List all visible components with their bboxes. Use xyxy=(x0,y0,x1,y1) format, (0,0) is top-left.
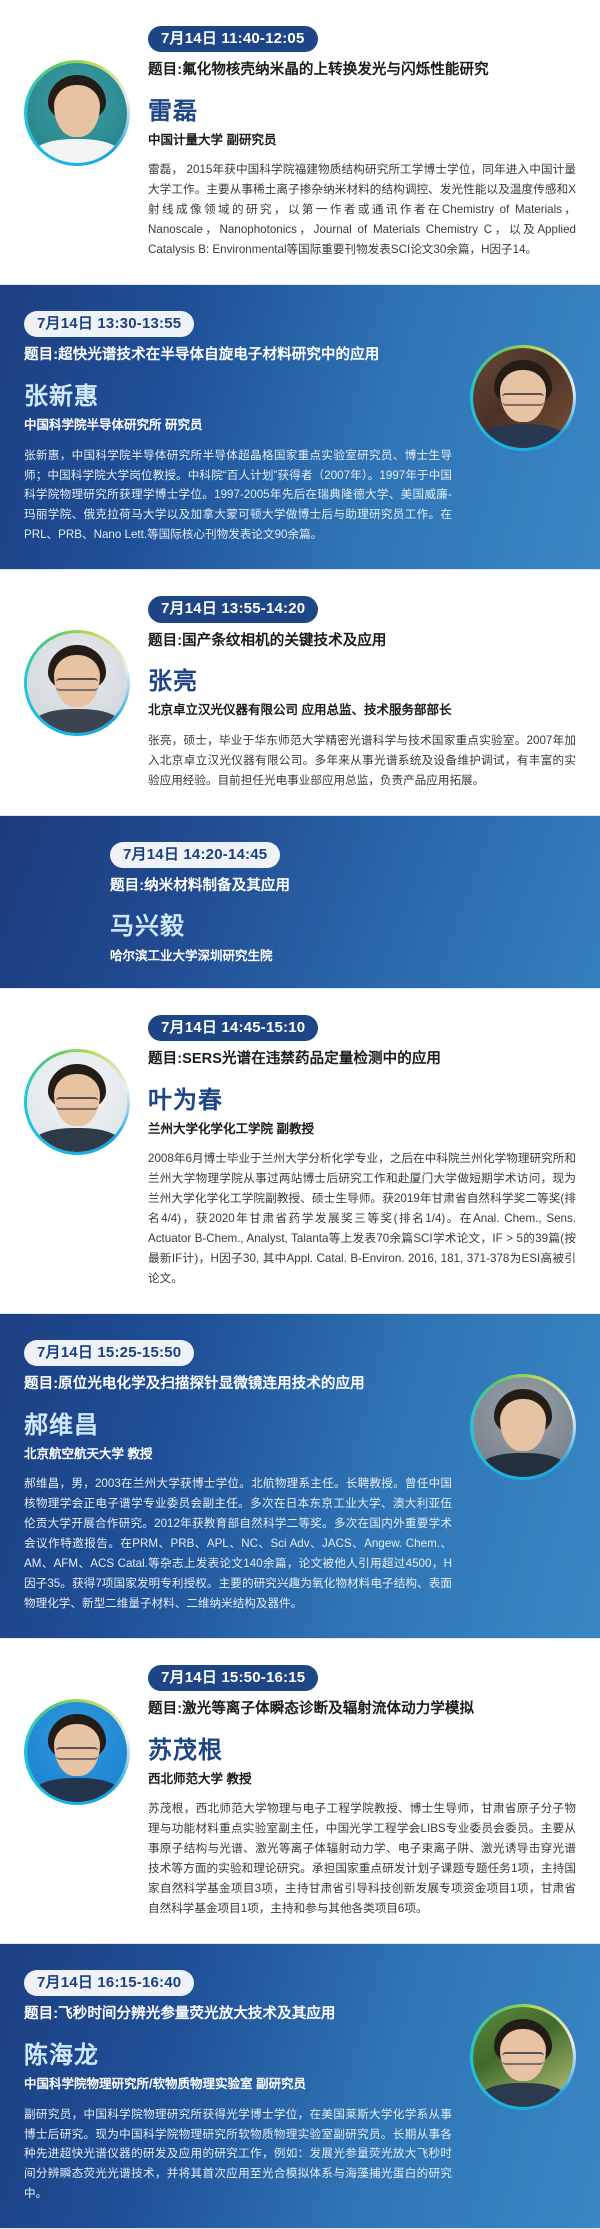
session-card: 7月14日 16:15-16:40 题目:飞秒时间分辨光参量荧光放大技术及其应用… xyxy=(0,1944,600,2228)
session-card: 7月14日 14:20-14:45 题目:纳米材料制备及其应用 马兴毅 哈尔滨工… xyxy=(0,816,600,988)
speaker-name: 郝维昌 xyxy=(24,1413,452,1439)
session-details: 7月14日 16:15-16:40 题目:飞秒时间分辨光参量荧光放大技术及其应用… xyxy=(24,1970,470,2204)
avatar-torso-shape xyxy=(34,709,120,733)
session-time-badge: 7月14日 11:40-12:05 xyxy=(148,26,318,52)
speaker-bio: 副研究员，中国科学院物理研究所获得光学博士学位，在美国莱斯大学化学系从事博士后研… xyxy=(24,2105,452,2205)
session-time-badge: 7月14日 15:50-16:15 xyxy=(148,1665,318,1691)
speaker-affiliation: 中国科学院半导体研究所 研究员 xyxy=(24,417,452,433)
avatar-torso-shape xyxy=(34,139,120,163)
glasses-icon xyxy=(502,393,544,406)
speaker-bio: 2008年6月博士毕业于兰州大学分析化学专业，之后在中科院兰州化学物理研究所和兰… xyxy=(148,1149,576,1289)
avatar-ye-weichun xyxy=(24,1049,130,1155)
glasses-icon xyxy=(56,1097,98,1110)
avatar-image xyxy=(473,2007,573,2107)
session-topic: 题目:飞秒时间分辨光参量荧光放大技术及其应用 xyxy=(24,2005,452,2025)
session-topic: 题目:SERS光谱在违禁药品定量检测中的应用 xyxy=(148,1050,576,1070)
speaker-name: 张新惠 xyxy=(24,384,452,410)
glasses-icon xyxy=(56,678,98,691)
session-card: 7月14日 11:40-12:05 题目:氟化物核壳纳米晶的上转换发光与闪烁性能… xyxy=(0,0,600,284)
session-time-badge: 7月14日 15:25-15:50 xyxy=(24,1340,194,1366)
session-card: 7月14日 15:25-15:50 题目:原位光电化学及扫描探针显微镜连用技术的… xyxy=(0,1314,600,1638)
speaker-affiliation: 哈尔滨工业大学深圳研究生院 xyxy=(110,948,576,964)
speaker-affiliation: 中国科学院物理研究所/软物质物理实验室 副研究员 xyxy=(24,2076,452,2092)
session-time-badge: 7月14日 16:15-16:40 xyxy=(24,1970,194,1996)
session-card: 7月14日 15:50-16:15 题目:激光等离子体瞬态诊断及辐射流体动力学模… xyxy=(0,1639,600,1943)
session-topic: 题目:激光等离子体瞬态诊断及辐射流体动力学模拟 xyxy=(148,1700,576,1720)
speaker-bio: 雷磊， 2015年获中国科学院福建物质结构研究所工学博士学位，同年进入中国计量大… xyxy=(148,160,576,260)
session-details: 7月14日 13:30-13:55 题目:超快光谱技术在半导体自旋电子材料研究中… xyxy=(24,311,470,545)
avatar-torso-shape xyxy=(480,424,566,448)
avatar-image xyxy=(27,1052,127,1152)
speaker-name: 雷磊 xyxy=(148,99,576,125)
avatar-lei-lei xyxy=(24,60,130,166)
session-card: 7月14日 14:45-15:10 题目:SERS光谱在违禁药品定量检测中的应用… xyxy=(0,989,600,1313)
session-card: 7月14日 13:30-13:55 题目:超快光谱技术在半导体自旋电子材料研究中… xyxy=(0,285,600,569)
speaker-bio: 苏茂根，西北师范大学物理与电子工程学院教授、博士生导师，甘肃省原子分子物理与功能… xyxy=(148,1799,576,1919)
avatar-torso-shape xyxy=(480,2083,566,2107)
session-time-badge: 7月14日 13:30-13:55 xyxy=(24,311,194,337)
speaker-bio: 郝维昌，男，2003在兰州大学获博士学位。北航物理系主任。长聘教授。曾任中国核物… xyxy=(24,1474,452,1614)
session-topic: 题目:纳米材料制备及其应用 xyxy=(110,877,576,897)
session-topic: 题目:原位光电化学及扫描探针显微镜连用技术的应用 xyxy=(24,1375,452,1395)
avatar-image xyxy=(473,1377,573,1477)
session-time-badge: 7月14日 14:45-15:10 xyxy=(148,1015,318,1041)
session-details: 7月14日 15:50-16:15 题目:激光等离子体瞬态诊断及辐射流体动力学模… xyxy=(130,1665,576,1919)
speaker-name: 陈海龙 xyxy=(24,2043,452,2069)
speaker-bio: 张亮，硕士，毕业于华东师范大学精密光谱科学与技术国家重点实验室。2007年加入北… xyxy=(148,731,576,791)
avatar-su-maogen xyxy=(24,1699,130,1805)
session-details: 7月14日 14:45-15:10 题目:SERS光谱在违禁药品定量检测中的应用… xyxy=(130,1015,576,1289)
speaker-name: 叶为春 xyxy=(148,1088,576,1114)
glasses-icon xyxy=(56,1747,98,1760)
speaker-affiliation: 中国计量大学 副研究员 xyxy=(148,132,576,148)
avatar-zhang-liang xyxy=(24,630,130,736)
avatar-zhang-xinhui xyxy=(470,345,576,451)
speaker-name: 马兴毅 xyxy=(110,914,576,940)
speaker-name: 苏茂根 xyxy=(148,1738,576,1764)
speaker-affiliation: 北京航空航天大学 教授 xyxy=(24,1446,452,1462)
avatar-image xyxy=(473,348,573,448)
speaker-affiliation: 兰州大学化学化工学院 副教授 xyxy=(148,1121,576,1137)
avatar-image xyxy=(27,633,127,733)
speaker-bio: 张新惠，中国科学院半导体研究所半导体超晶格国家重点实验室研究员、博士生导师；中国… xyxy=(24,446,452,546)
avatar-torso-shape xyxy=(34,1128,120,1152)
avatar-hao-weichang xyxy=(470,1374,576,1480)
avatar-torso-shape xyxy=(34,1778,120,1802)
session-topic: 题目:超快光谱技术在半导体自旋电子材料研究中的应用 xyxy=(24,346,452,366)
session-time-badge: 7月14日 13:55-14:20 xyxy=(148,596,318,622)
session-card: 7月14日 13:55-14:20 题目:国产条纹相机的关键技术及应用 张亮 北… xyxy=(0,570,600,814)
session-details: 7月14日 13:55-14:20 题目:国产条纹相机的关键技术及应用 张亮 北… xyxy=(130,596,576,790)
session-topic: 题目:国产条纹相机的关键技术及应用 xyxy=(148,632,576,652)
session-details: 7月14日 14:20-14:45 题目:纳米材料制备及其应用 马兴毅 哈尔滨工… xyxy=(24,842,576,964)
speaker-affiliation: 北京卓立汉光仪器有限公司 应用总监、技术服务部部长 xyxy=(148,702,576,718)
glasses-icon xyxy=(502,2052,544,2065)
session-time-badge: 7月14日 14:20-14:45 xyxy=(110,842,280,868)
avatar-torso-shape xyxy=(480,1453,566,1477)
avatar-chen-hailong xyxy=(470,2004,576,2110)
speaker-affiliation: 西北师范大学 教授 xyxy=(148,1771,576,1787)
session-details: 7月14日 15:25-15:50 题目:原位光电化学及扫描探针显微镜连用技术的… xyxy=(24,1340,470,1614)
avatar-image xyxy=(27,1702,127,1802)
avatar-image xyxy=(27,63,127,163)
speaker-name: 张亮 xyxy=(148,669,576,695)
session-topic: 题目:氟化物核壳纳米晶的上转换发光与闪烁性能研究 xyxy=(148,61,576,81)
conference-schedule-page: 7月14日 11:40-12:05 题目:氟化物核壳纳米晶的上转换发光与闪烁性能… xyxy=(0,0,600,2229)
session-details: 7月14日 11:40-12:05 题目:氟化物核壳纳米晶的上转换发光与闪烁性能… xyxy=(130,26,576,260)
